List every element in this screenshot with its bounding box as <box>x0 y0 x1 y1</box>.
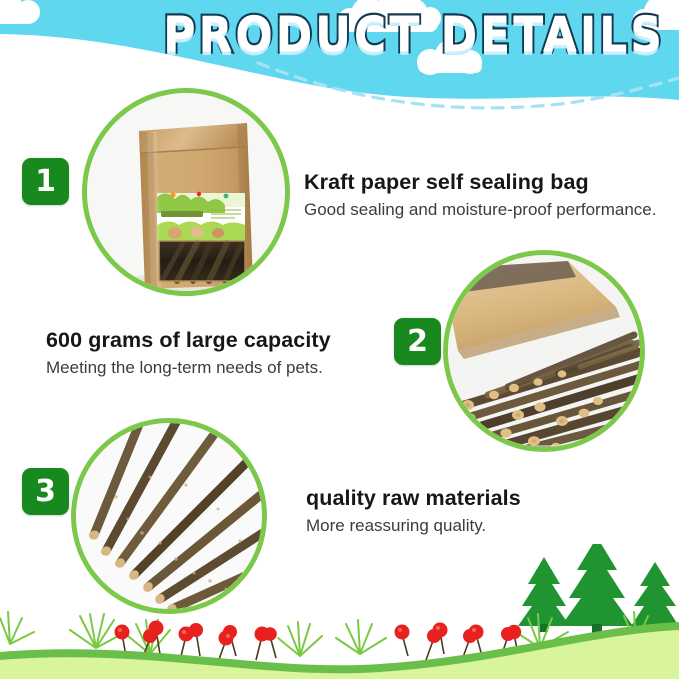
feature-1-subtitle: Good sealing and moisture-proof performa… <box>304 200 656 220</box>
feature-2-number-badge: 2 <box>394 318 441 365</box>
feature-1-text: Kraft paper self sealing bag Good sealin… <box>304 170 656 220</box>
pine-tree-large-center <box>561 544 633 634</box>
feature-2-text: 600 grams of large capacity Meeting the … <box>46 328 331 378</box>
feature-1-number: 1 <box>35 164 56 199</box>
feature-2-subtitle: Meeting the long-term needs of pets. <box>46 358 331 378</box>
pine-tree-small-left <box>518 557 570 632</box>
feature-3-title: quality raw materials <box>306 486 521 511</box>
feature-1-number-badge: 1 <box>22 158 69 205</box>
infographic-root: PRODUCT DETAILS <box>0 0 679 679</box>
feature-2-number: 2 <box>407 324 428 359</box>
feature-3-text: quality raw materials More reassuring qu… <box>306 486 521 536</box>
feature-3-number-badge: 3 <box>22 468 69 515</box>
feature-1-image <box>82 88 290 296</box>
kraft-paper-bag-photo <box>87 93 285 291</box>
stick-bundle-photo <box>448 255 640 447</box>
bottom-decoration <box>0 544 679 679</box>
feature-2-image <box>443 250 645 452</box>
feature-1-title: Kraft paper self sealing bag <box>304 170 656 195</box>
feature-3-number: 3 <box>35 474 56 509</box>
feature-2-title: 600 grams of large capacity <box>46 328 331 353</box>
header-banner <box>0 0 679 150</box>
feature-3-subtitle: More reassuring quality. <box>306 516 521 536</box>
